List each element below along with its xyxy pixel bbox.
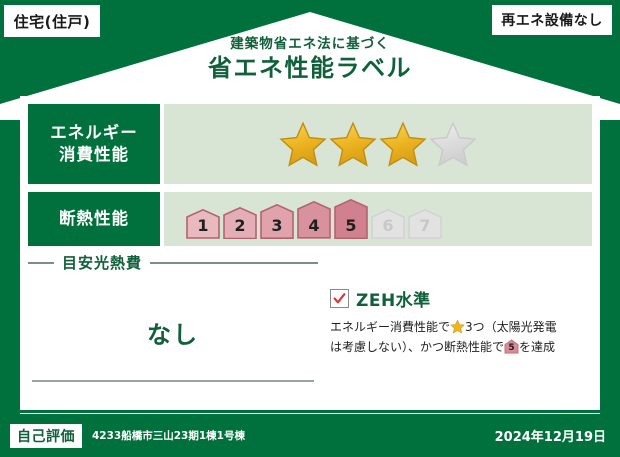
title-subtitle: 建築物省エネ法に基づく [0,36,620,52]
zeh-standard-panel: ZEH水準 エネルギー消費性能で 3つ（太陽光発電 は考慮しない）、かつ断熱性能… [330,286,582,358]
insulation-performance-label: 断熱性能 [28,192,160,246]
insulation-level-house: 5 [334,199,368,239]
inline-house-level: 5 [504,341,519,356]
insulation-level-house: 6 [371,209,405,239]
insulation-label-text: 断熱性能 [59,208,129,230]
issue-date: 2024年12月19日 [495,426,606,445]
renewable-energy-tag: 再エネ設備なし [492,5,612,35]
insulation-level-number: 7 [419,216,430,235]
zeh-label: ZEH水準 [356,286,431,311]
check-icon [333,292,346,305]
zeh-desc-part-3: は考慮しない）、かつ断熱性能で [330,340,504,354]
label-title-block: 建築物省エネ法に基づく 省エネ性能ラベル [0,36,620,83]
insulation-level-number: 3 [271,216,282,235]
insulation-level-number: 6 [382,216,393,235]
zeh-desc-part-4: を達成 [519,340,555,354]
insulation-level-house: 7 [408,209,442,239]
footer-divider [20,410,600,413]
heading-rule-right [150,262,318,264]
utility-cost-heading-text: 目安光熱費 [62,252,142,273]
energy-consumption-label: エネルギー 消費性能 [28,104,160,184]
housing-type-tag: 住宅(住戸) [4,5,100,37]
utility-cost-value: なし [28,315,318,350]
heading-rule-left [28,262,54,264]
label-footer: 自己評価 4233船橋市三山23期1棟1号棟 2024年12月19日 [0,414,620,457]
star-empty-icon [429,120,477,168]
insulation-level-number: 5 [345,216,356,235]
title-main: 省エネ性能ラベル [0,55,620,83]
insulation-level-house: 3 [260,204,294,239]
energy-label-line-2: 消費性能 [59,144,129,166]
energy-performance-label: 住宅(住戸) 再エネ設備なし 建築物省エネ法に基づく 省エネ性能ラベル エネルギ… [0,0,620,457]
star-filled-icon [329,120,377,168]
star-rating [279,120,477,168]
insulation-performance-value: 1234567 [164,192,592,246]
insulation-level-house: 2 [223,207,257,240]
zeh-desc-part-1: エネルギー消費性能で [330,320,450,334]
self-evaluation-badge: 自己評価 [10,424,82,448]
utility-cost-heading: 目安光熱費 [28,252,318,273]
insulation-level-house: 1 [186,209,220,239]
utility-cost-bottom-rule [32,380,314,382]
insulation-level-house: 4 [297,201,331,239]
zeh-checkbox[interactable] [330,289,349,308]
insulation-level-number: 4 [308,216,319,235]
insulation-level-scale: 1234567 [186,199,442,239]
star-filled-icon [279,120,327,168]
zeh-desc-part-2: 3つ（太陽光発電 [465,320,557,334]
property-address: 4233船橋市三山23期1棟1号棟 [92,428,245,443]
inline-house-icon: 5 [504,339,519,354]
zeh-title-row: ZEH水準 [330,286,582,311]
energy-consumption-value [164,104,592,184]
insulation-performance-row: 断熱性能 1234567 [28,192,592,246]
utility-cost-panel: 目安光熱費 なし [28,252,318,402]
inline-star-icon [450,319,465,334]
zeh-description: エネルギー消費性能で 3つ（太陽光発電 は考慮しない）、かつ断熱性能で 5 を達… [330,318,582,358]
energy-consumption-row: エネルギー 消費性能 [28,104,592,184]
star-filled-icon [379,120,427,168]
energy-label-line-1: エネルギー [50,122,138,144]
insulation-level-number: 1 [197,216,208,235]
insulation-level-number: 2 [234,216,245,235]
